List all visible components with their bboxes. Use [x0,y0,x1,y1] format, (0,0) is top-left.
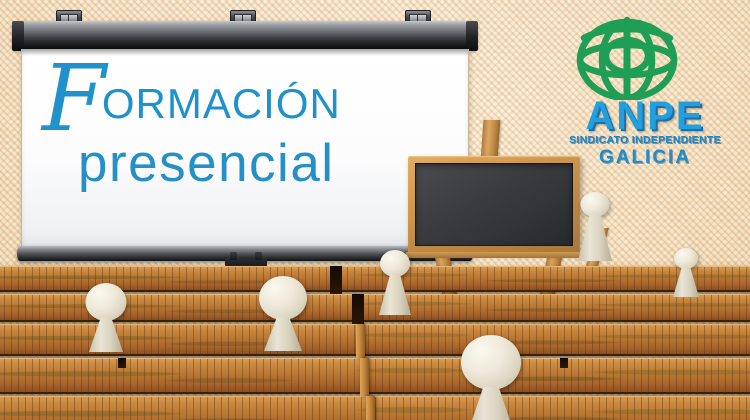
headline-line-1: Formación [42,67,452,129]
headline-line-1-rest: ormación [102,64,341,131]
logo-wordmark: ANPE [552,94,738,139]
figure-head [380,250,410,277]
seated-figure [258,276,308,344]
figure-head [581,192,610,217]
blackboard-surface [415,163,573,246]
logo-region: GALICIA [552,147,738,169]
figure-body [89,318,123,352]
globe-icon [574,16,680,100]
blackboard-frame [408,156,580,253]
seated-figure [378,250,412,312]
figure-body [379,275,411,315]
seated-figure [672,248,700,296]
blackboard-chalk-tray [406,252,582,258]
seat-gap [118,358,126,368]
seat-row-wear [0,359,750,392]
seat-row-divider [360,358,369,396]
anpe-logo: ANPE SINDICATO INDEPENDIENTE GALICIA [552,16,738,166]
seat-row [0,396,750,420]
easel-leg-center [481,120,501,160]
seat-row [0,358,750,394]
seated-figure [577,192,613,262]
seat-gap [560,358,568,368]
roller-end-cap-left [12,21,24,51]
headline-initial-letter: F [42,45,102,152]
figure-body [578,215,612,261]
figure-body [264,317,302,351]
roller-end-cap-right [466,21,478,51]
figure-body [467,387,515,420]
figure-head [86,283,127,321]
figure-head [259,276,307,320]
figure-head [461,335,521,390]
figure-head [674,248,698,269]
seat-aisle-gap [330,266,342,294]
seat-row-wear [0,397,750,420]
headline-line-2: presencial [78,135,452,193]
seat-row-divider [356,324,365,358]
seat-row-divider [366,396,375,420]
logo-subtitle: SINDICATO INDEPENDIENTE [552,134,738,146]
seat-aisle-gap [352,294,364,324]
poster-image: Formación presencial [0,0,750,420]
figure-body [673,267,699,297]
screen-headline: Formación presencial [42,67,452,193]
seated-figure [85,283,127,345]
seated-figure [460,335,522,420]
